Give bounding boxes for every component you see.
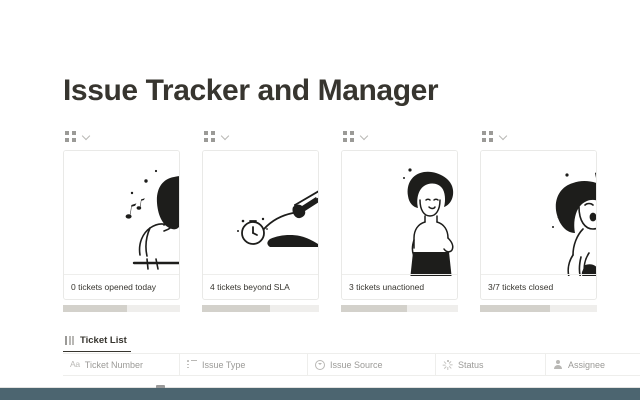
grid-icon[interactable] [65,131,76,142]
select-circle-icon [315,360,325,370]
card-gallery: 0 tickets opened today [63,126,640,321]
column-header-status-label: Status [458,360,484,370]
column-header-status[interactable]: Status [436,354,546,375]
grid-icon[interactable] [343,131,354,142]
card-3-caption: 3/7 tickets closed [481,274,596,299]
card-0-header[interactable] [63,126,202,146]
table-view-icon [65,336,74,345]
card-1-progress [202,305,319,312]
gallery-card-1[interactable]: 4 tickets beyond SLA [202,126,341,312]
text-aa-icon: Aa [70,360,80,369]
column-header-assignee-label: Assignee [568,360,605,370]
card-1-caption: 4 tickets beyond SLA [203,274,318,299]
status-spinner-icon [443,360,453,370]
chevron-down-icon[interactable] [360,132,369,141]
card-0-progress [63,305,180,312]
column-header-ticket-number-label: Ticket Number [85,360,143,370]
stopwatch-and-arm-illustration [203,151,318,276]
column-header-issue-type-label: Issue Type [202,360,245,370]
chevron-down-icon[interactable] [82,132,91,141]
card-1-header[interactable] [202,126,341,146]
page-canvas: Issue Tracker and Manager [0,0,640,400]
card-2-body[interactable]: 3 tickets unactioned [341,150,458,300]
multi-select-list-icon [187,360,197,369]
standing-woman-illustration [342,151,457,276]
card-3-header[interactable] [480,126,619,146]
gallery-card-0[interactable]: 0 tickets opened today [63,126,202,312]
gallery-card-3[interactable]: 3/7 tickets closed [480,126,619,312]
chevron-down-icon[interactable] [221,132,230,141]
column-header-issue-source[interactable]: Issue Source [308,354,436,375]
card-0-caption: 0 tickets opened today [64,274,179,299]
page-title: Issue Tracker and Manager [63,72,438,110]
grid-icon[interactable] [204,131,215,142]
card-2-header[interactable] [341,126,480,146]
card-2-progress [341,305,458,312]
column-header-issue-source-label: Issue Source [330,360,383,370]
card-1-body[interactable]: 4 tickets beyond SLA [202,150,319,300]
column-header-issue-type[interactable]: Issue Type [180,354,308,375]
tab-ticket-list-label: Ticket List [80,335,127,346]
person-with-music-notes-illustration [64,151,179,276]
chevron-down-icon[interactable] [499,132,508,141]
card-0-body[interactable]: 0 tickets opened today [63,150,180,300]
tab-ticket-list[interactable]: Ticket List [63,330,131,352]
card-2-caption: 3 tickets unactioned [342,274,457,299]
person-icon [553,360,563,370]
column-header-ticket-number[interactable]: Aa Ticket Number [63,354,180,375]
table-header-row: Aa Ticket Number Issue Type Issue Source… [63,353,640,376]
column-header-assignee[interactable]: Assignee [546,354,640,375]
woman-portrait-illustration [481,151,596,276]
tab-strip: Ticket List [63,330,131,352]
card-3-progress [480,305,597,312]
bottom-bar [0,388,640,400]
gallery-card-2[interactable]: 3 tickets unactioned [341,126,480,312]
grid-icon[interactable] [482,131,493,142]
card-3-body[interactable]: 3/7 tickets closed [480,150,597,300]
